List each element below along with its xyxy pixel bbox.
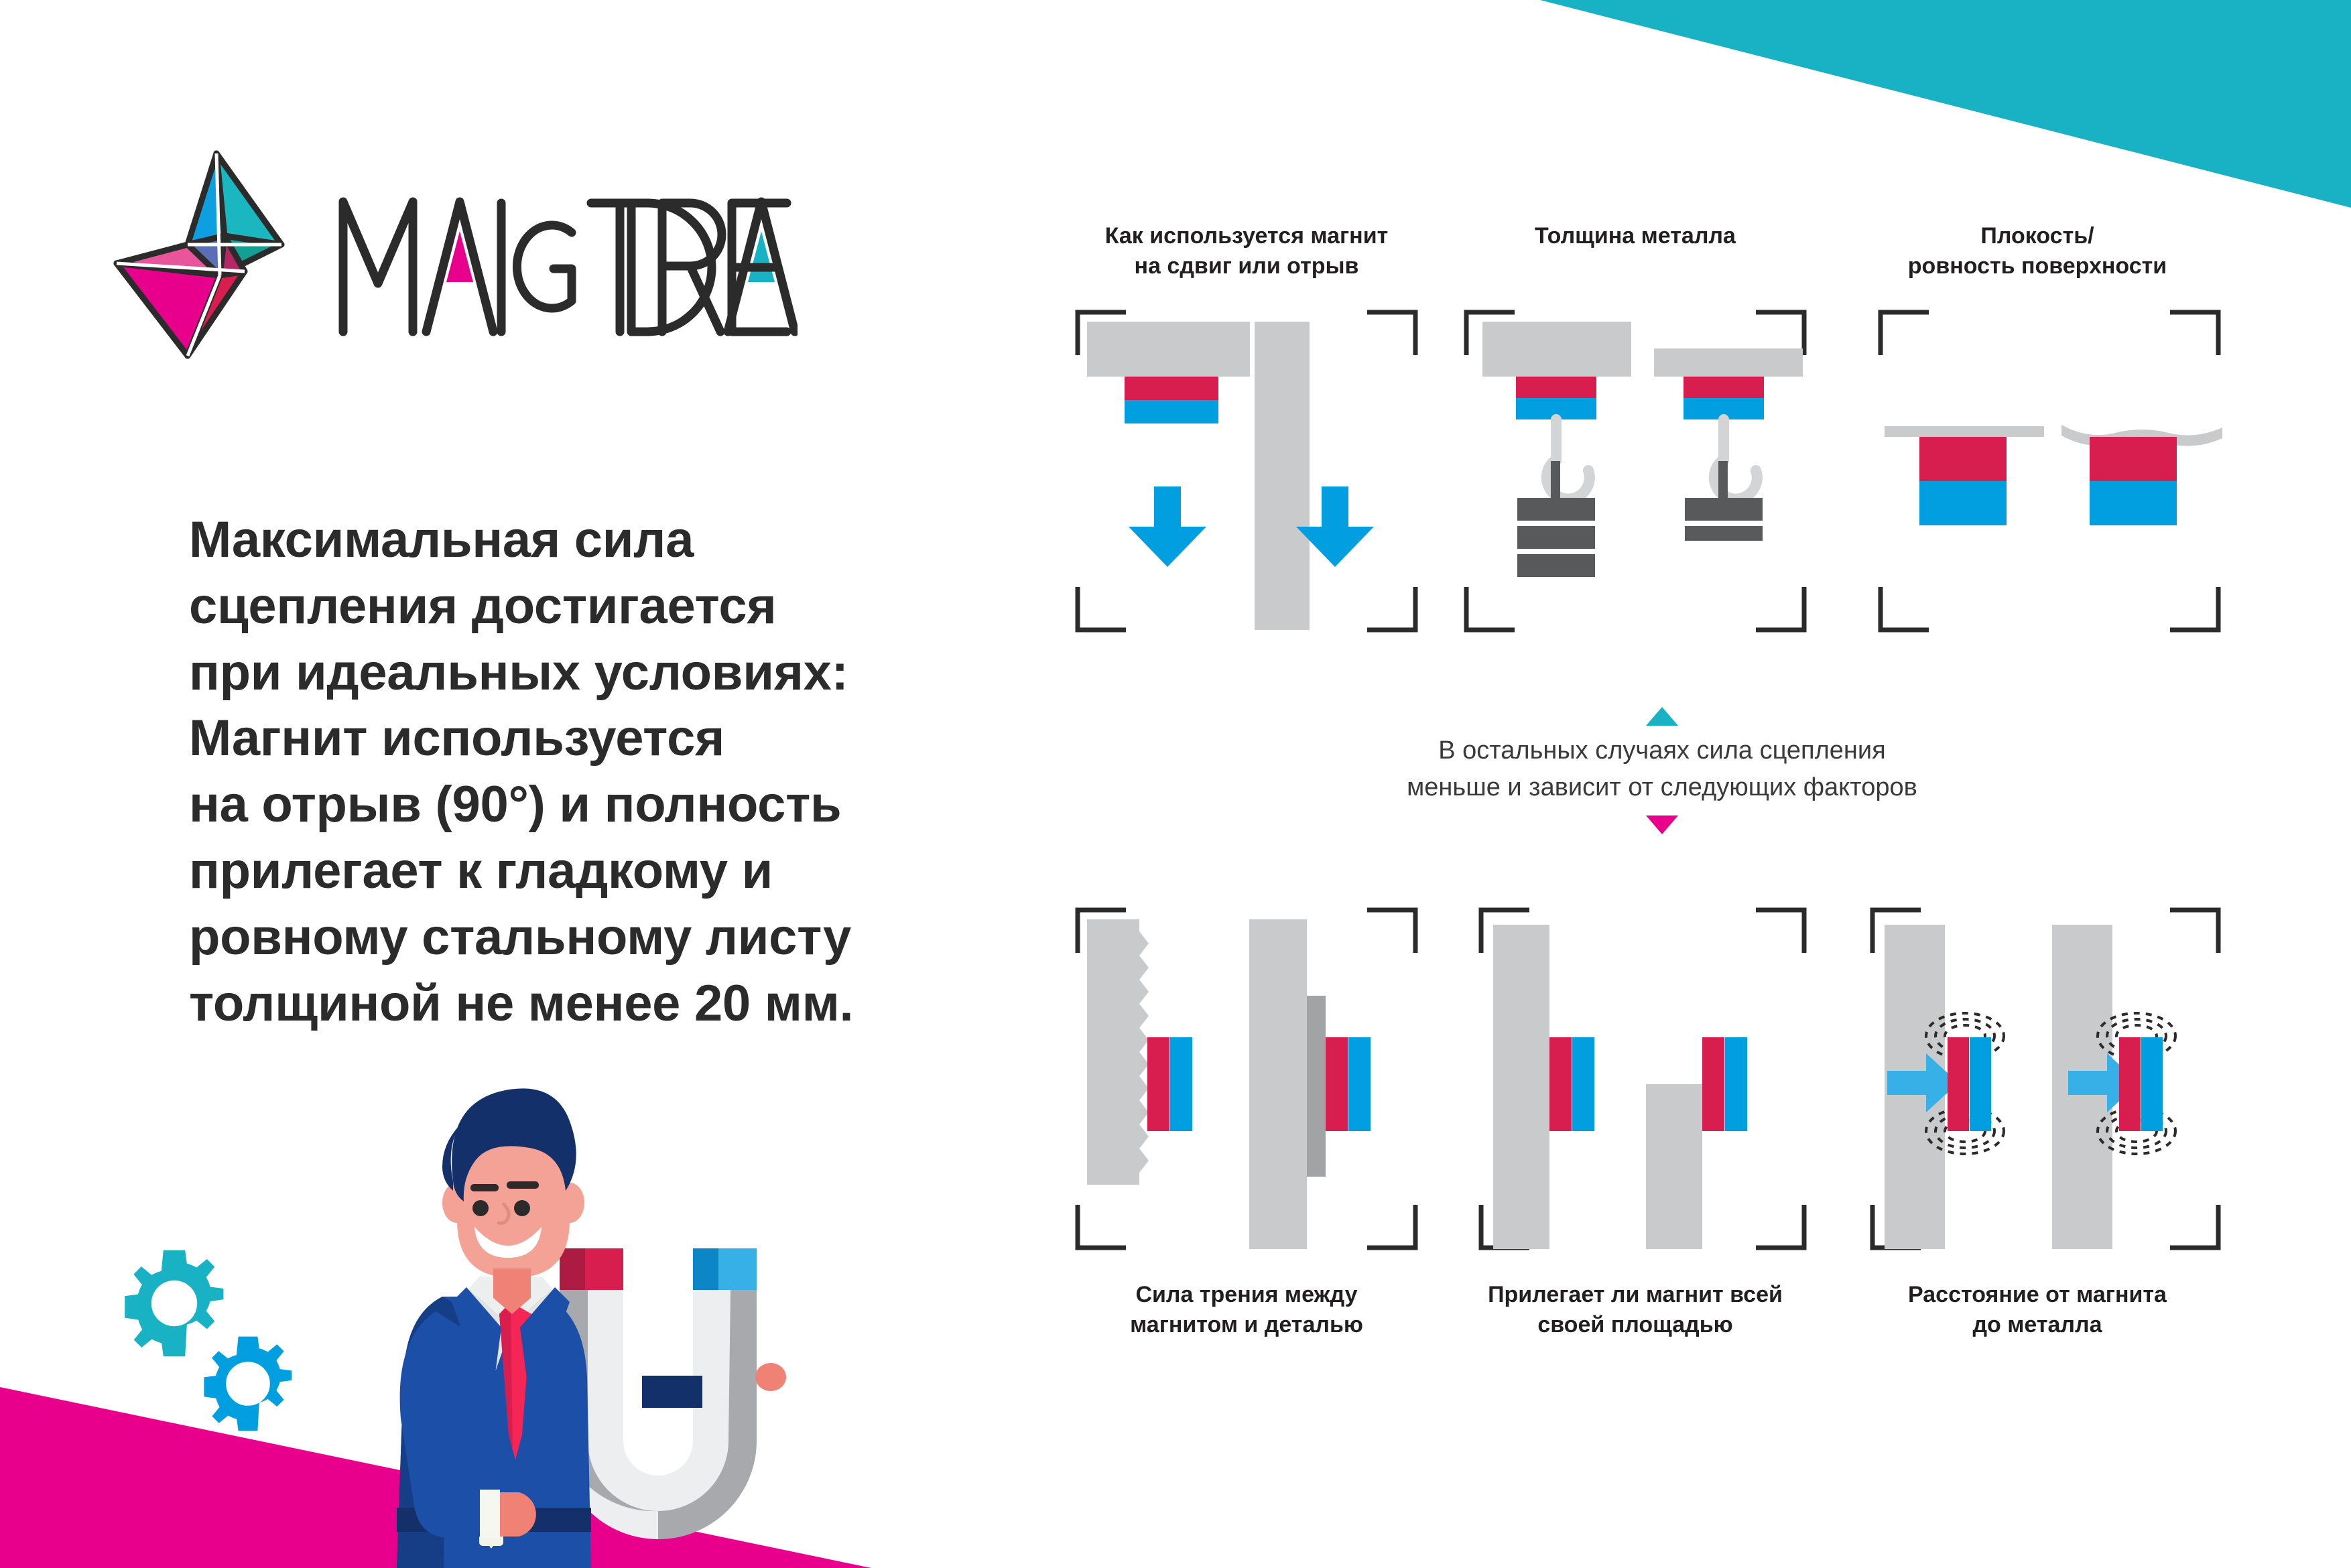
panel-title: Плокость/ ровность поверхности [1850,221,2225,281]
headline-line: ровному стальному листу [189,905,946,971]
panel-title: Как используется магнит на сдвиг или отр… [1072,221,1421,281]
panel-contact-area: Прилегает ли магнит всей своей площадью [1461,905,1809,1414]
connector-line: меньше и зависит от следующих факторов [1273,769,2051,806]
brand-logo [107,144,791,365]
triangle-down-icon [1646,815,1678,834]
panel-caption: Сила трения между магнитом и деталью [1072,1280,1421,1340]
panel-title: Толщина металла [1461,221,1809,251]
panel-surface-flatness: Плокость/ ровность поверхности [1850,221,2225,637]
teal-corner-wedge [1486,0,2351,208]
businessman-with-magnet-illustration [355,1075,865,1568]
panel-magnet-distance: Расстояние от магнита до металла [1850,905,2225,1414]
panel-friction-force: Сила трения между магнитом и деталью [1072,905,1421,1414]
shear-vs-pull-diagram [1072,307,1421,635]
contact-area-diagram [1461,905,1809,1253]
headline-line: на отрыв (90°) и полность [189,772,946,838]
magnet-distance-diagram [1850,905,2225,1253]
headline-line: прилегает к гладкому и [189,838,946,905]
headline-line: Магнит используется [189,706,946,772]
headline-line: при идеальных условиях: [189,640,946,706]
gear-icon-blue [194,1330,302,1437]
panel-metal-thickness: Толщина металла [1461,221,1809,637]
friction-force-diagram [1072,905,1421,1253]
connector-note: В остальных случаях сила сцепления меньш… [1273,707,2051,834]
magtrade-diamond-logo-icon [107,144,328,365]
page-headline: Максимальная сила сцепления достигается … [189,507,946,1037]
headline-line: Максимальная сила [189,507,946,574]
surface-flatness-diagram [1850,307,2225,635]
headline-line: толщиной не менее 20 мм. [189,971,946,1037]
connector-line: В остальных случаях сила сцепления [1273,732,2051,769]
metal-thickness-diagram [1461,307,1809,635]
panel-caption: Прилегает ли магнит всей своей площадью [1461,1280,1809,1340]
panel-shear-vs-pull: Как используется магнит на сдвиг или отр… [1072,221,1421,637]
infographic-canvas: Максимальная сила сцепления достигается … [0,0,2351,1568]
panel-caption: Расстояние от магнита до металла [1850,1280,2225,1340]
magtrade-wordmark-tail [328,149,798,364]
triangle-up-icon [1646,707,1678,726]
headline-line: сцепления достигается [189,574,946,640]
